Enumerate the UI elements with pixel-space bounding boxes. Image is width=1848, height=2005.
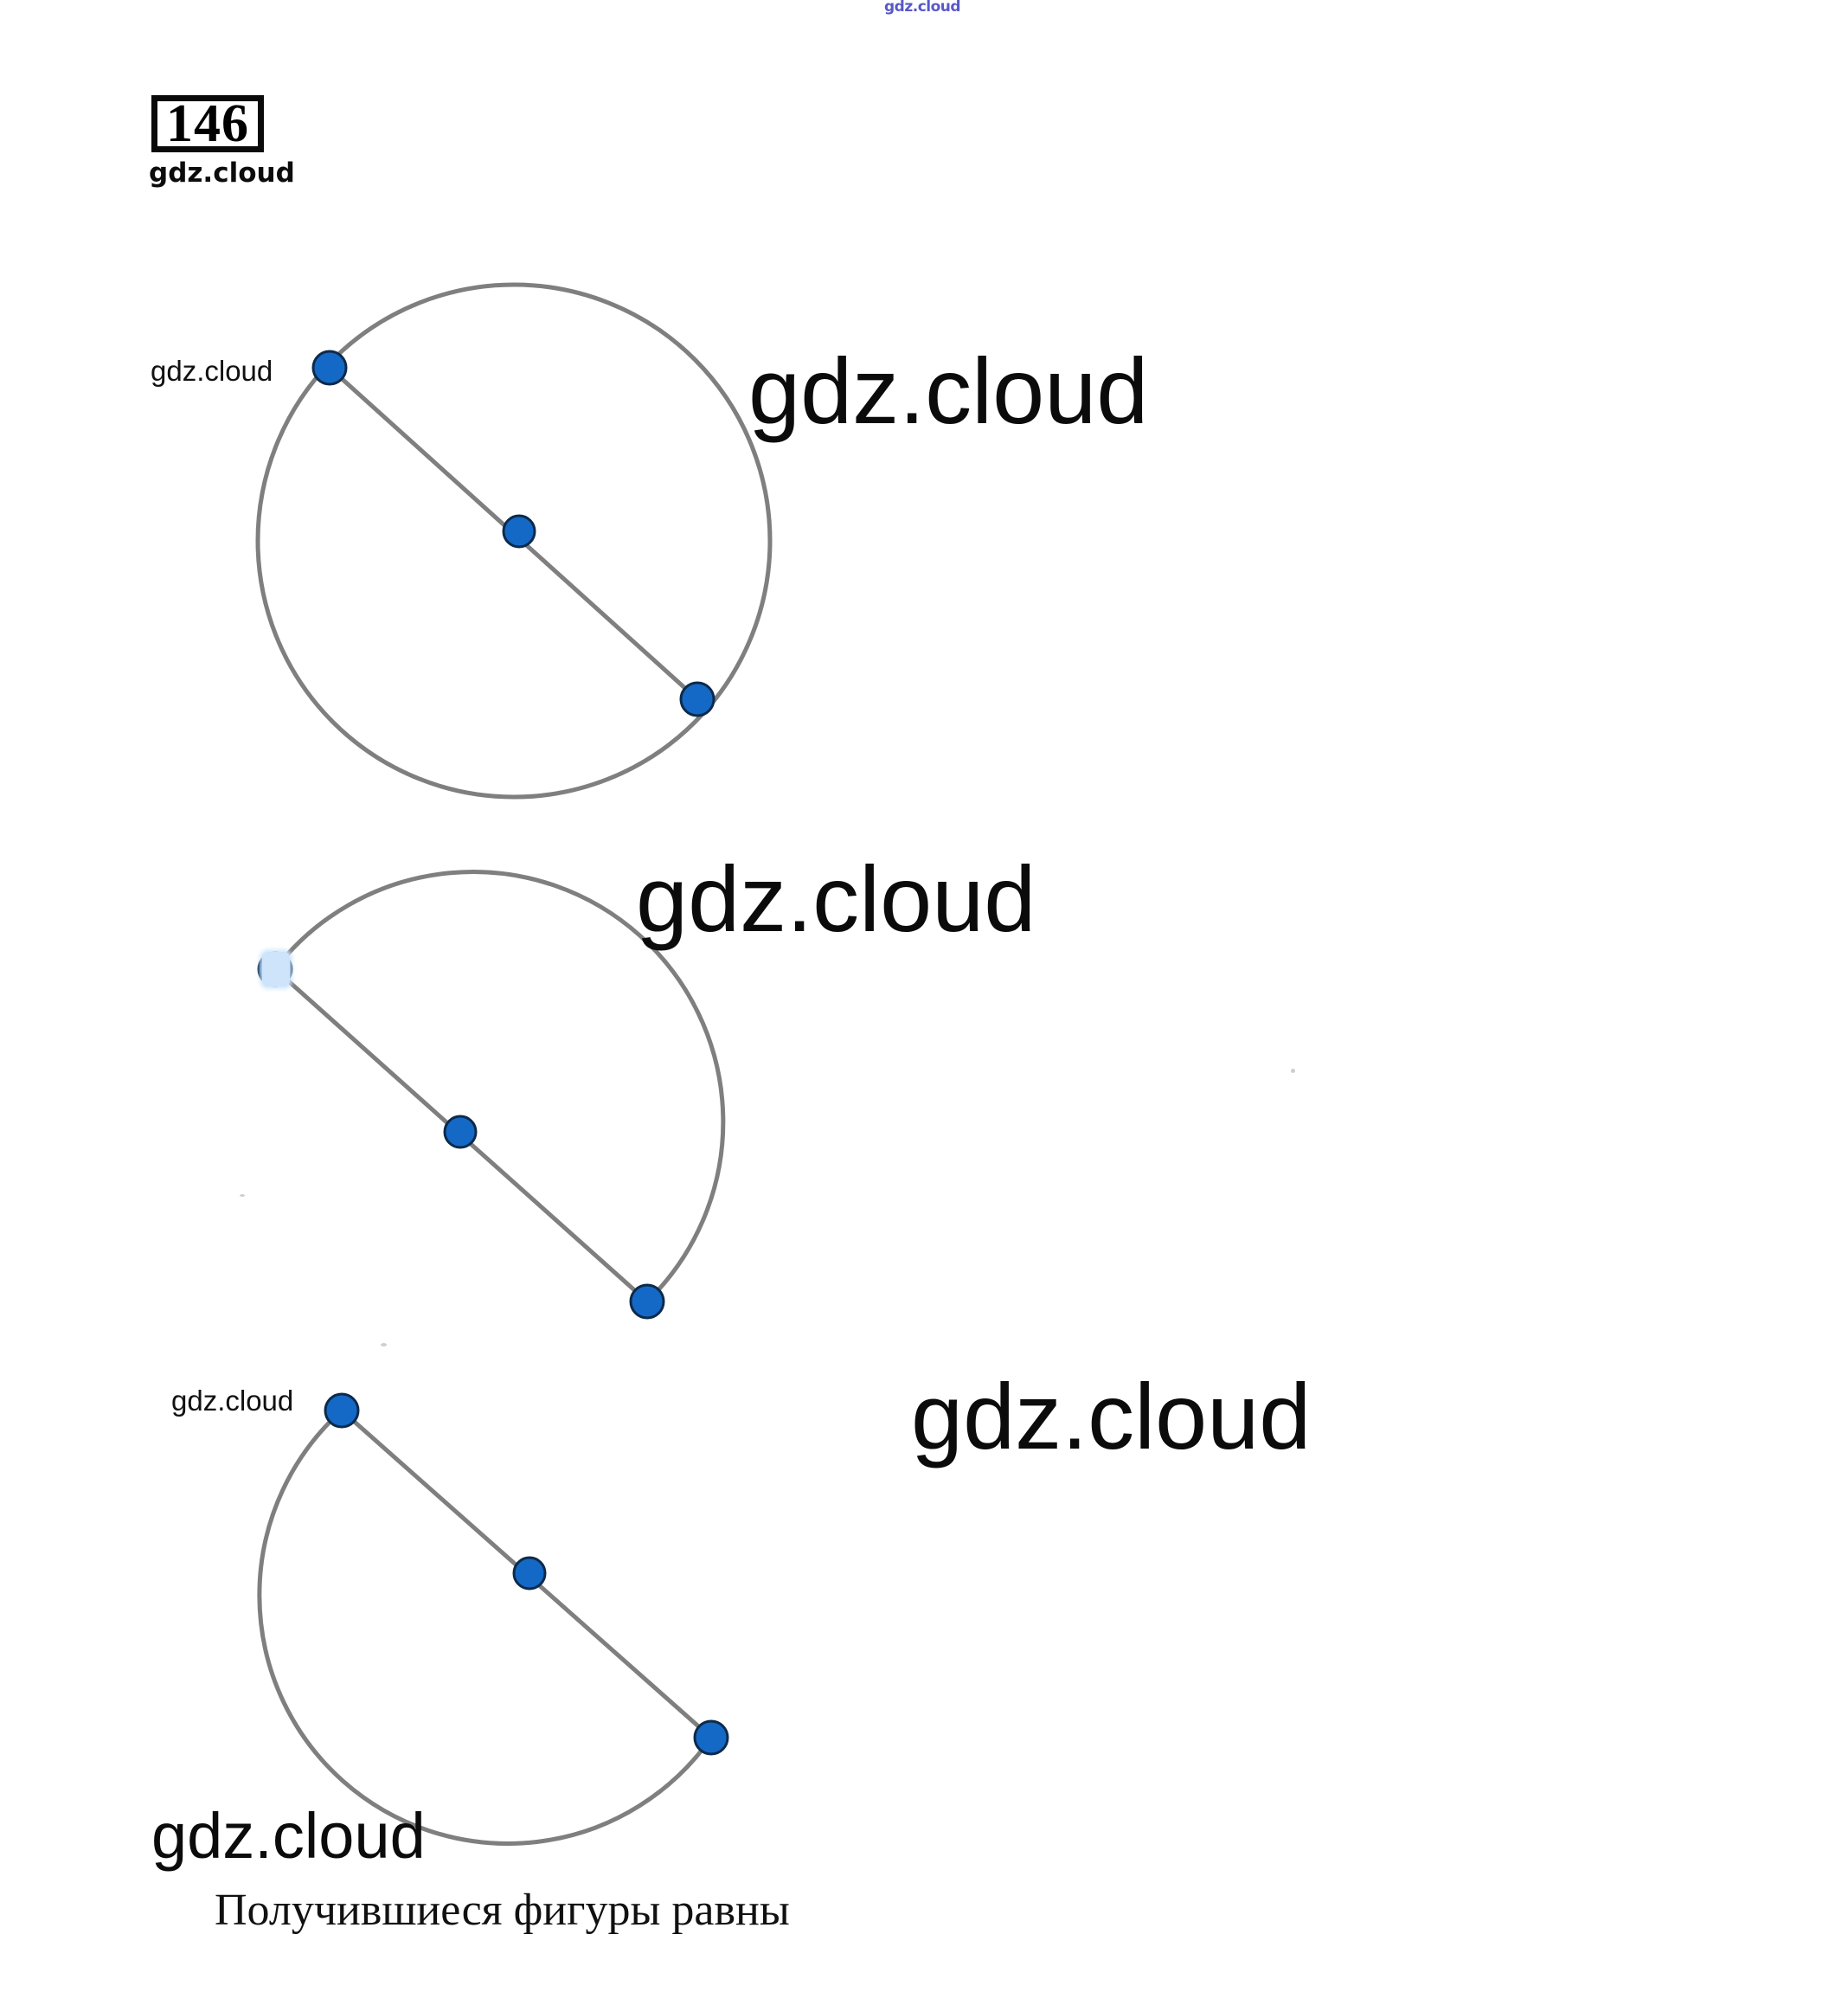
figure1-large-watermark: gdz.cloud [748, 344, 1148, 438]
point-endpoint-b [681, 683, 714, 716]
figure-upper-semicircle [0, 0, 1848, 2005]
point-center-o-lower [514, 1558, 545, 1589]
point-endpoint-b-upper [631, 1285, 664, 1318]
top-watermark: gdz.cloud [884, 0, 960, 16]
scan-speck [381, 1343, 387, 1346]
point-endpoint-b-lower [695, 1721, 728, 1754]
point-endpoint-a [313, 351, 346, 384]
point-center-o [504, 516, 535, 547]
exercise-number-box: 146 [151, 95, 264, 152]
semicircle-chord-upper [275, 969, 647, 1301]
selection-handle-icon[interactable] [262, 952, 290, 986]
watermark-under-number: gdz.cloud [149, 157, 295, 189]
figure-full-circle [0, 0, 1848, 2005]
circle-outline-group [258, 285, 770, 797]
figure-lower-semicircle [0, 0, 1848, 2005]
scan-speck [1291, 1069, 1295, 1073]
conclusion-caption: Получившиеся фигуры равны [215, 1888, 790, 1933]
scan-speck [240, 1194, 245, 1197]
point-center-o-upper [445, 1116, 476, 1147]
figure3-large-watermark: gdz.cloud [911, 1370, 1311, 1463]
figure1-small-watermark: gdz.cloud [151, 357, 273, 385]
diameter-line [330, 368, 697, 699]
exercise-number: 146 [166, 97, 249, 151]
semicircle-chord-lower [342, 1411, 711, 1738]
figure2-large-watermark: gdz.cloud [636, 852, 1036, 946]
semicircle-arc-lower [260, 1411, 711, 1843]
point-endpoint-a-lower [325, 1394, 358, 1427]
figure3-medium-watermark: gdz.cloud [151, 1804, 426, 1868]
lower-semicircle-group [260, 1394, 728, 1843]
circle-outline [258, 285, 770, 797]
figure3-small-watermark: gdz.cloud [171, 1386, 293, 1415]
